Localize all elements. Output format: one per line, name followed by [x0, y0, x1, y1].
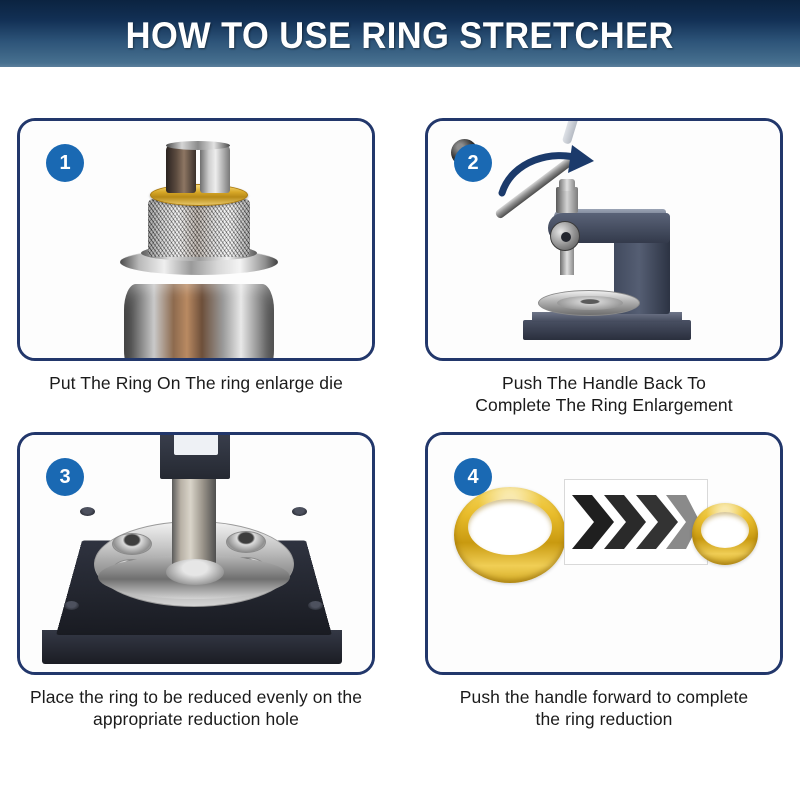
plate-screw	[80, 507, 95, 516]
step-3-caption-line-2: appropriate reduction hole	[17, 708, 375, 730]
machine-pivot	[550, 221, 580, 251]
gold-ring-on-die	[150, 184, 248, 206]
step-2-caption: Push The Handle Back To Complete The Rin…	[425, 372, 783, 416]
ring-inner-hole	[701, 512, 749, 548]
step-4-caption-line-1: Push the handle forward to complete	[425, 686, 783, 708]
plate-screw	[64, 601, 79, 610]
step-number-badge-1: 1	[46, 144, 84, 182]
step-4-caption-line-2: the ring reduction	[425, 708, 783, 730]
step-card-2: 2 Push The Handle Back To Complete The R…	[425, 118, 783, 416]
ram-bracket-window	[174, 433, 218, 455]
die-post-cap	[166, 141, 230, 150]
step-2-caption-line-2: Complete The Ring Enlargement	[425, 394, 783, 416]
step-1-caption: Put The Ring On The ring enlarge die	[17, 372, 375, 394]
step-number-badge-2: 2	[454, 144, 492, 182]
plate-screw	[292, 507, 307, 516]
step-number-badge-3: 3	[46, 458, 84, 496]
step-2-caption-line-1: Push The Handle Back To	[425, 372, 783, 394]
die-post-right	[200, 145, 230, 193]
ring-inner-hole	[468, 499, 552, 555]
reduction-hole	[112, 533, 152, 555]
step-2-image-card: 2	[425, 118, 783, 361]
step-card-4: 4 Push the handle forward to complete th…	[425, 432, 783, 730]
machine-base-plate	[523, 320, 691, 340]
gold-ring-before	[454, 487, 566, 583]
chevron-arrow-box	[564, 479, 708, 565]
knurled-die-body	[148, 199, 250, 257]
machine-turntable	[538, 290, 640, 316]
step-3-image-card: 3	[17, 432, 375, 675]
handle-ghost-position	[562, 118, 603, 145]
die-post-left	[166, 145, 196, 193]
step-card-1: 1 Put The Ring On The ring enlarge die	[17, 118, 375, 394]
reduction-hole	[226, 531, 266, 553]
page-title: HOW TO USE RING STRETCHER	[126, 13, 674, 54]
step-1-caption-line-1: Put The Ring On The ring enlarge die	[17, 372, 375, 394]
page-header: HOW TO USE RING STRETCHER	[0, 0, 800, 67]
base-plate-edge	[42, 630, 342, 664]
die-base-cylinder	[124, 284, 274, 361]
step-3-caption: Place the ring to be reduced evenly on t…	[17, 686, 375, 730]
step-1-image-card: 1	[17, 118, 375, 361]
steps-grid: 1 Put The Ring On The ring enlarge die	[0, 67, 800, 800]
motion-arrow-icon	[494, 143, 602, 203]
gold-ring-after	[692, 503, 758, 565]
press-ram-foot	[166, 559, 224, 585]
step-3-caption-line-1: Place the ring to be reduced evenly on t…	[17, 686, 375, 708]
step-number-badge-4: 4	[454, 458, 492, 496]
step-4-image-card: 4	[425, 432, 783, 675]
step-4-caption: Push the handle forward to complete the …	[425, 686, 783, 730]
step-card-3: 3 Place the ring to be reduced evenly on…	[17, 432, 375, 730]
chevron-sequence-icon	[570, 491, 702, 553]
plate-screw	[308, 601, 323, 610]
